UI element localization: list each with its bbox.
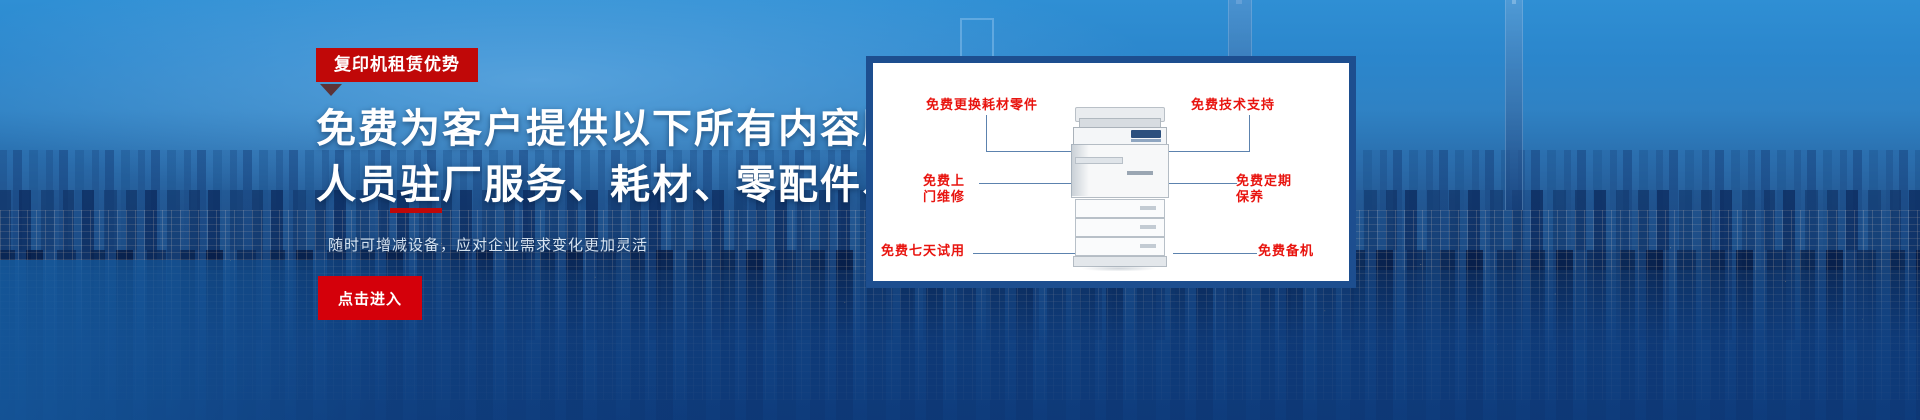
copier-shadow (1069, 266, 1169, 271)
banner-text-column: 复印机租赁优势 免费为客户提供以下所有内容服务： 人员驻厂服务、耗材、零配件、人… (0, 0, 860, 420)
feature-label-free-consumables: 免费更换耗材零件 (926, 97, 1038, 113)
feature-label-onsite-repair: 免费上门维修 (923, 173, 977, 206)
promo-badge-tail-icon (320, 84, 342, 96)
leader-line-bottom-left (973, 253, 1081, 254)
leader-line-top-left (986, 151, 1082, 152)
copier-drawer-handle (1140, 244, 1156, 248)
copier-control-strip (1131, 139, 1161, 142)
copier-drawer-handle (1140, 206, 1156, 210)
copier-drawer-handle (1140, 225, 1156, 229)
banner-subtitle: 随时可增减设备，应对企业需求变化更加灵活 (328, 234, 648, 255)
enter-button[interactable]: 点击进入 (318, 276, 422, 320)
feature-label-seven-day-trial: 免费七天试用 (881, 243, 965, 259)
feature-label-regular-maintenance: 免费定期保养 (1236, 173, 1294, 206)
leader-line-mid-left (979, 183, 1079, 184)
promo-badge: 复印机租赁优势 (316, 48, 478, 82)
feature-label-tech-support: 免费技术支持 (1191, 97, 1275, 113)
leader-line-top-right-vertical (1249, 115, 1250, 151)
copier-body-shading (1071, 144, 1089, 196)
feature-label-backup-machine: 免费备机 (1258, 243, 1314, 259)
leader-line-top-left-vertical (986, 115, 987, 151)
copier-control-panel (1131, 130, 1161, 138)
copier-paper-drawer (1075, 199, 1165, 218)
leader-line-top-right (1165, 151, 1250, 152)
headline-divider (390, 208, 442, 213)
copier-paper-drawer (1075, 218, 1165, 237)
copier-output-tray (1075, 157, 1123, 164)
features-panel: 免费更换耗材零件 免费技术支持 免费上门维修 免费定期保养 免费七天试用 免费备… (866, 56, 1356, 288)
features-panel-inner: 免费更换耗材零件 免费技术支持 免费上门维修 免费定期保养 免费七天试用 免费备… (873, 63, 1349, 281)
leader-line-mid-right (1169, 183, 1237, 184)
copier-paper-drawer (1075, 237, 1165, 256)
copier-icon (1069, 107, 1169, 272)
leader-line-bottom-right (1173, 253, 1257, 254)
copier-brand-mark (1127, 171, 1153, 175)
promo-banner: 复印机租赁优势 免费为客户提供以下所有内容服务： 人员驻厂服务、耗材、零配件、人… (0, 0, 1920, 420)
